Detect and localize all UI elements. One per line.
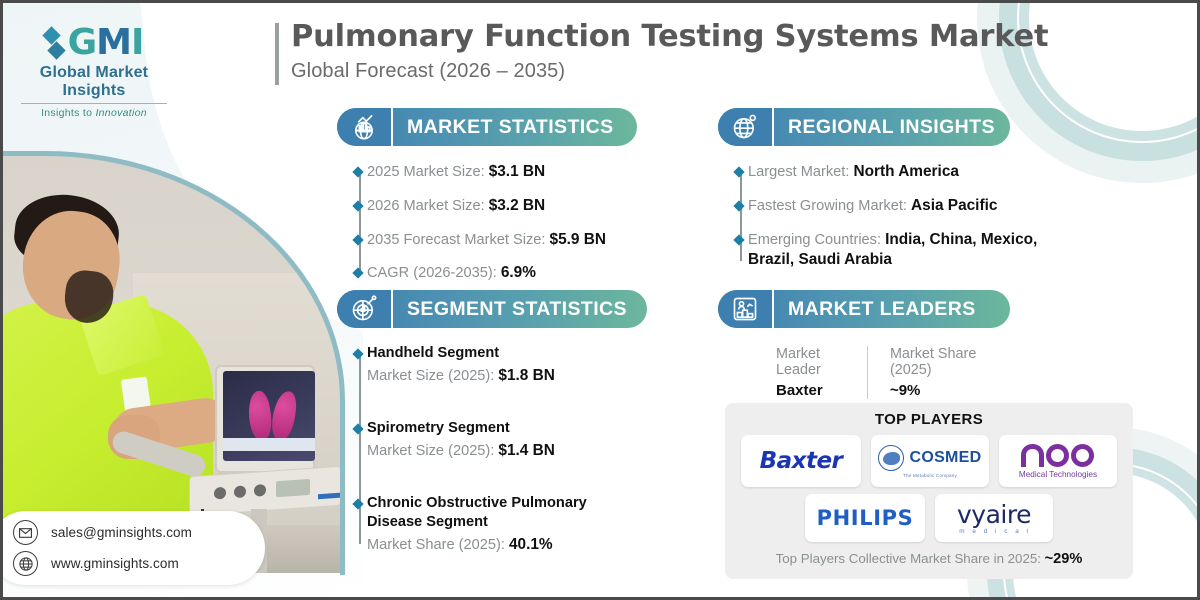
market-share-label: Market Share (2025) — [890, 346, 988, 378]
segment-metric-value: $1.4 BN — [498, 442, 554, 459]
segment-name: Chronic Obstructive Pulmonary Disease Se… — [367, 494, 632, 532]
list-item-text: Fastest Growing Market: Asia Pacific — [748, 196, 1010, 217]
photo-lung-left — [246, 390, 275, 443]
segment-metric: Market Size (2025): $1.8 BN — [367, 367, 647, 385]
list-item-label: 2025 Market Size: — [367, 164, 489, 180]
segment-statistics-list: Handheld Segment Market Size (2025): $1.… — [337, 344, 647, 554]
segment-name: Handheld Segment — [367, 344, 647, 363]
segment-metric-label: Market Size (2025): — [367, 368, 498, 384]
contact-email-text: sales@gminsights.com — [51, 525, 192, 540]
gmi-logo: GMI Global Market Insights Insights to I… — [15, 25, 173, 119]
bullet-diamond-icon — [352, 200, 363, 211]
list-item-text: 2026 Market Size: $3.2 BN — [367, 196, 637, 217]
list-item-text: CAGR (2026-2035): 6.9% — [367, 263, 637, 284]
market-leader-summary: Market Leader Baxter Market Share (2025)… — [718, 346, 1010, 399]
segment-statistics-title: SEGMENT STATISTICS — [393, 298, 627, 321]
photo-console-knob — [254, 484, 266, 497]
list-item-label: 2026 Market Size: — [367, 198, 489, 214]
timeline-line — [359, 170, 361, 274]
list-item: Largest Market: North America — [748, 162, 1010, 183]
list-item-text: Emerging Countries: India, China, Mexico… — [748, 230, 1053, 272]
bullet-diamond-icon — [352, 166, 363, 177]
regional-insights-pill: REGIONAL INSIGHTS — [718, 108, 1010, 146]
list-item-text: 2035 Forecast Market Size: $5.9 BN — [367, 230, 637, 251]
ndd-logo-tagline: Medical Technologies — [1019, 470, 1097, 479]
segment-name: Spirometry Segment — [367, 419, 647, 438]
envelope-icon — [13, 520, 38, 545]
logo-divider — [21, 103, 167, 104]
segment-metric-value: 40.1% — [509, 536, 553, 553]
contact-email-row[interactable]: sales@gminsights.com — [13, 520, 265, 545]
globe-pin-icon-svg — [731, 113, 759, 141]
globe-pin-icon — [718, 108, 774, 146]
list-item-label: Largest Market: — [748, 164, 853, 180]
photo-screen-toolbar — [223, 438, 315, 451]
timeline-line — [359, 352, 361, 544]
list-item-text: 2025 Market Size: $3.1 BN — [367, 162, 637, 183]
cosmed-logo: COSMED The Metabolic Company — [878, 445, 981, 478]
top-players-footer: Top Players Collective Market Share in 2… — [737, 551, 1121, 567]
segment-metric: Market Size (2025): $1.4 BN — [367, 442, 647, 460]
bullet-diamond-icon — [352, 348, 363, 359]
contact-website-row[interactable]: www.gminsights.com — [13, 551, 265, 576]
envelope-icon-svg — [19, 528, 32, 538]
market-leader-label: Market Leader — [776, 346, 845, 378]
hero-photo — [3, 153, 343, 573]
logo-tagline-b: Innovation — [95, 107, 146, 119]
philips-logo-text: PHILIPS — [817, 506, 914, 530]
section-market-leaders: MARKET LEADERS Market Leader Baxter Mark… — [718, 290, 1010, 399]
market-statistics-title: MARKET STATISTICS — [393, 116, 614, 139]
podium-icon-svg — [731, 295, 759, 323]
photo-console-display — [276, 479, 310, 497]
regional-insights-list: Largest Market: North America Fastest Gr… — [718, 162, 1010, 271]
photo-lung-right — [270, 390, 299, 443]
list-item-label: Fastest Growing Market: — [748, 198, 911, 214]
section-segment-statistics: SEGMENT STATISTICS Handheld Segment Mark… — [337, 290, 647, 554]
ndd-letter-n-icon — [1021, 444, 1044, 467]
logo-card-baxter[interactable]: Baxter — [741, 435, 861, 487]
segment-metric-label: Market Size (2025): — [367, 443, 498, 459]
page-subtitle: Global Forecast (2026 – 2035) — [291, 60, 1048, 83]
top-players-row-1: Baxter COSMED The Metabolic Company — [737, 435, 1121, 487]
bullet-diamond-icon — [733, 166, 744, 177]
photo-console-knob — [214, 487, 226, 500]
list-item-value: $3.2 BN — [489, 197, 545, 214]
segment-target-icon-svg — [350, 295, 378, 323]
market-statistics-list: 2025 Market Size: $3.1 BN 2026 Market Si… — [337, 162, 637, 284]
list-item: CAGR (2026-2035): 6.9% — [367, 263, 637, 284]
cosmed-logo-text: COSMED — [909, 450, 981, 466]
market-leaders-pill: MARKET LEADERS — [718, 290, 1010, 328]
segment-statistics-pill: SEGMENT STATISTICS — [337, 290, 647, 328]
segment-metric-label: Market Share (2025): — [367, 537, 509, 553]
list-item-value: $5.9 BN — [550, 231, 606, 248]
top-players-footer-label: Top Players Collective Market Share in 2… — [776, 551, 1045, 566]
top-players-title: TOP PLAYERS — [737, 411, 1121, 428]
baxter-logo-text: Baxter — [760, 448, 843, 474]
logo-diamond-icon — [45, 29, 63, 57]
page-title-block: Pulmonary Function Testing Systems Marke… — [275, 19, 1048, 83]
list-item-label: Emerging Countries: — [748, 232, 885, 248]
bullet-diamond-icon — [352, 234, 363, 245]
vyaire-logo-tagline: m e d i c a l — [957, 528, 1031, 535]
bullet-diamond-icon — [352, 498, 363, 509]
globe-icon-svg — [19, 557, 33, 571]
list-item-value: 6.9% — [501, 264, 536, 281]
globe-chart-icon — [337, 108, 393, 146]
list-item-label: 2035 Forecast Market Size: — [367, 232, 550, 248]
bullet-diamond-icon — [733, 200, 744, 211]
logo-card-ndd[interactable]: Medical Technologies — [999, 435, 1117, 487]
logo-tagline-a: Insights to — [41, 107, 95, 119]
list-item: Spirometry Segment Market Size (2025): $… — [367, 419, 647, 460]
list-item-value: North America — [853, 163, 958, 180]
cosmed-emblem-icon — [878, 445, 904, 471]
segment-metric-value: $1.8 BN — [498, 367, 554, 384]
logo-card-philips[interactable]: PHILIPS — [805, 494, 925, 542]
logo-card-cosmed[interactable]: COSMED The Metabolic Company — [871, 435, 989, 487]
page-title: Pulmonary Function Testing Systems Marke… — [291, 19, 1048, 56]
logo-company-name: Global Market Insights — [15, 64, 173, 100]
title-accent-bar — [275, 23, 279, 85]
list-item-value: Asia Pacific — [911, 197, 997, 214]
market-leader-column: Market Leader Baxter — [776, 346, 867, 399]
list-item-value: $3.1 BN — [489, 163, 545, 180]
segment-target-icon — [337, 290, 393, 328]
logo-tagline: Insights to Innovation — [15, 107, 173, 119]
contact-website-text: www.gminsights.com — [51, 556, 179, 571]
section-regional-insights: REGIONAL INSIGHTS Largest Market: North … — [718, 108, 1010, 271]
timeline-line — [740, 170, 742, 261]
market-leader-value: Baxter — [776, 382, 845, 399]
list-item-label: CAGR (2026-2035): — [367, 265, 501, 281]
ndd-logo-marks — [1019, 444, 1097, 467]
list-item-text: Largest Market: North America — [748, 162, 1010, 183]
globe-icon — [13, 551, 38, 576]
market-share-value: ~9% — [890, 382, 988, 399]
top-players-footer-value: ~29% — [1045, 551, 1083, 567]
photo-console-knob — [234, 485, 246, 498]
vyaire-logo-text: vyaire — [957, 502, 1031, 527]
infographic-canvas: GMI Global Market Insights Insights to I… — [0, 0, 1200, 600]
market-share-column: Market Share (2025) ~9% — [867, 346, 1010, 399]
ndd-logo: Medical Technologies — [1019, 444, 1097, 479]
vyaire-logo: vyaire m e d i c a l — [957, 502, 1031, 535]
globe-chart-icon-svg — [350, 113, 378, 141]
cosmed-logo-row: COSMED — [878, 445, 981, 471]
cosmed-logo-tagline: The Metabolic Company — [878, 473, 981, 478]
bullet-diamond-icon — [352, 268, 363, 279]
regional-insights-title: REGIONAL INSIGHTS — [774, 116, 995, 139]
logo-initials: GMI — [68, 25, 144, 61]
bullet-diamond-icon — [352, 423, 363, 434]
ndd-letter-d-icon — [1046, 444, 1069, 467]
contact-panel: sales@gminsights.com www.gminsights.com — [0, 511, 265, 585]
ndd-letter-d-icon — [1071, 444, 1094, 467]
podium-icon — [718, 290, 774, 328]
logo-card-vyaire[interactable]: vyaire m e d i c a l — [935, 494, 1053, 542]
top-players-row-2: PHILIPS vyaire m e d i c a l — [737, 494, 1121, 542]
list-item: Handheld Segment Market Size (2025): $1.… — [367, 344, 647, 385]
market-leaders-title: MARKET LEADERS — [774, 298, 976, 321]
list-item: Emerging Countries: India, China, Mexico… — [748, 230, 1053, 272]
list-item: Chronic Obstructive Pulmonary Disease Se… — [367, 494, 647, 554]
list-item: 2035 Forecast Market Size: $5.9 BN — [367, 230, 637, 251]
top-players-panel: TOP PLAYERS Baxter COSMED The Metabolic … — [725, 403, 1133, 579]
list-item: 2026 Market Size: $3.2 BN — [367, 196, 637, 217]
list-item: Fastest Growing Market: Asia Pacific — [748, 196, 1010, 217]
photo-background — [3, 153, 343, 573]
section-market-statistics: MARKET STATISTICS 2025 Market Size: $3.1… — [337, 108, 637, 284]
segment-metric: Market Share (2025): 40.1% — [367, 536, 647, 554]
logo-mark: GMI — [15, 25, 173, 61]
bullet-diamond-icon — [733, 234, 744, 245]
list-item: 2025 Market Size: $3.1 BN — [367, 162, 637, 183]
market-statistics-pill: MARKET STATISTICS — [337, 108, 637, 146]
photo-monitor-screen — [223, 371, 315, 461]
